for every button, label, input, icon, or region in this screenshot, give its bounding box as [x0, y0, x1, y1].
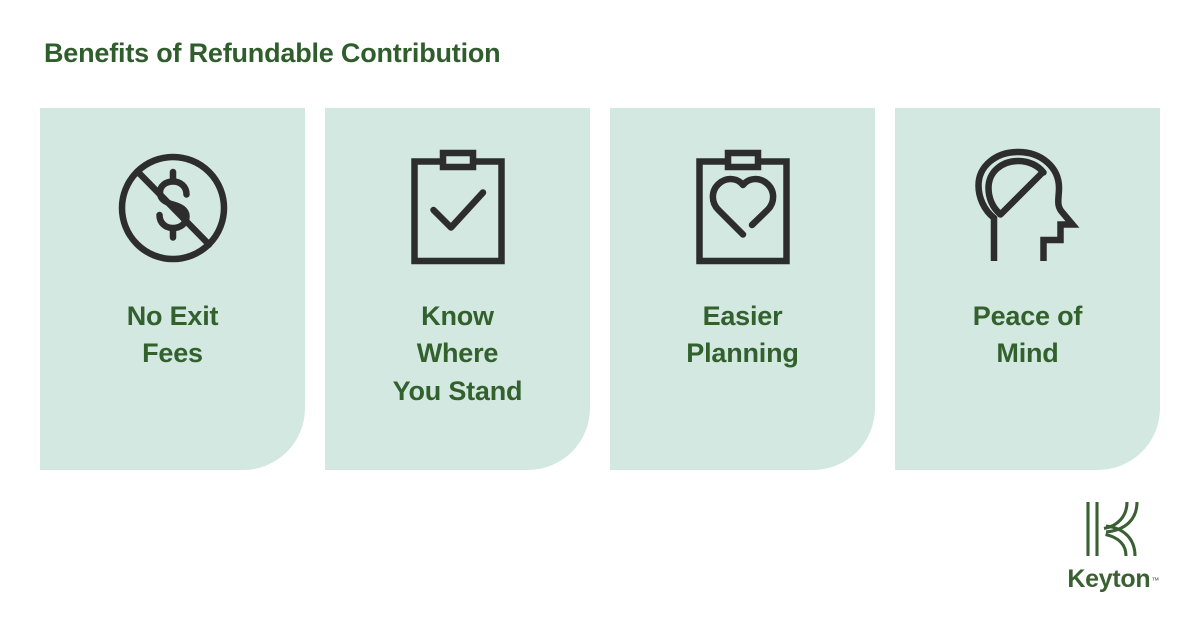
slide-canvas: Benefits of Refundable Contribution No E…	[0, 0, 1200, 636]
benefit-card[interactable]: No Exit Fees	[40, 108, 305, 470]
keyton-wordmark-text: Keyton	[1067, 565, 1150, 593]
head-gauge-icon	[966, 146, 1090, 270]
benefit-cards-row: No Exit Fees Know Where You Stand	[40, 108, 1160, 470]
benefit-card-label: Easier Planning	[676, 298, 808, 373]
keyton-k-mark-icon	[1082, 500, 1144, 558]
benefit-card-label: No Exit Fees	[117, 298, 229, 373]
keyton-wordmark: Keyton™	[1067, 565, 1158, 594]
no-dollar-fees-icon	[111, 146, 235, 270]
trademark-icon: ™	[1151, 576, 1159, 585]
clipboard-check-icon	[396, 146, 520, 270]
benefit-card[interactable]: Peace of Mind	[895, 108, 1160, 470]
clipboard-heart-icon	[681, 146, 805, 270]
benefit-card[interactable]: Know Where You Stand	[325, 108, 590, 470]
page-title: Benefits of Refundable Contribution	[44, 38, 500, 69]
keyton-logo[interactable]: Keyton™	[1067, 500, 1158, 594]
benefit-card-label: Peace of Mind	[963, 298, 1092, 373]
benefit-card[interactable]: Easier Planning	[610, 108, 875, 470]
benefit-card-label: Know Where You Stand	[383, 298, 533, 410]
